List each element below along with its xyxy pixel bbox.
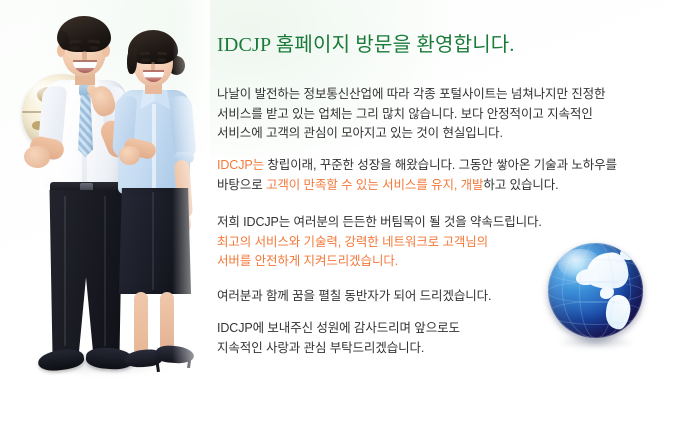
woman-skirt xyxy=(119,188,191,294)
globe-sphere xyxy=(548,243,643,338)
man-eye-left xyxy=(70,46,80,50)
woman-eye-right xyxy=(157,58,166,62)
blue-3d-globe xyxy=(548,243,648,353)
text-line: 서비스에 고객의 관심이 모아지고 있는 것이 현실입니다. xyxy=(217,124,605,144)
man-eye-right xyxy=(89,46,99,50)
highlighted-text: 서버를 안전하게 지켜드리겠습니다. xyxy=(217,254,398,268)
man-trouser-crease-left xyxy=(64,196,66,346)
body-text: 서비스에 고객의 관심이 모아지고 있는 것이 현실입니다. xyxy=(217,126,503,140)
woman-eye-left xyxy=(141,58,150,62)
paragraph-1: 나날이 발전하는 정보통신산업에 따라 각종 포털사이트는 넘쳐나지만 진정한서… xyxy=(217,85,605,144)
man-left-hand xyxy=(24,146,50,168)
paragraph-2: IDCJP는 창립이래, 꾸준한 성장을 해왔습니다. 그동안 쌓아온 기술과 … xyxy=(217,156,617,195)
woman-skirt-seam xyxy=(152,192,154,290)
text-line: IDCJP는 창립이래, 꾸준한 성장을 해왔습니다. 그동안 쌓아온 기술과 … xyxy=(217,156,617,176)
highlighted-text: 고객이 만족할 수 있는 서비스를 유지, 개발 xyxy=(266,178,483,192)
text-line: 바탕으로 고객이 만족할 수 있는 서비스를 유지, 개발하고 있습니다. xyxy=(217,176,617,196)
text-line: 최고의 서비스와 기술력, 강력한 네트워크로 고객님의 xyxy=(217,233,542,253)
text-line: 지속적인 사랑과 관심 부탁드리겠습니다. xyxy=(217,339,460,359)
highlighted-text: 최고의 서비스와 기술력, 강력한 네트워크로 고객님의 xyxy=(217,235,488,249)
paragraph-3: 저희 IDCJP는 여러분의 든든한 버팀목이 될 것을 약속드립니다.최고의 … xyxy=(217,213,542,272)
man-striped-tie xyxy=(78,95,93,157)
highlighted-text: IDCJP는 xyxy=(217,158,264,172)
body-text: 하고 있습니다. xyxy=(483,178,558,192)
paragraph-4: 여러분과 함께 꿈을 펼칠 동반자가 되어 드리겠습니다. xyxy=(217,287,491,307)
woman-right-sleeve xyxy=(169,95,196,161)
woman-left-hand xyxy=(119,146,140,165)
text-line: 저희 IDCJP는 여러분의 든든한 버팀목이 될 것을 약속드립니다. xyxy=(217,213,542,233)
text-line: 나날이 발전하는 정보통신산업에 따라 각종 포털사이트는 넘쳐나지만 진정한 xyxy=(217,85,605,105)
body-text: 여러분과 함께 꿈을 펼칠 동반자가 되어 드리겠습니다. xyxy=(217,289,491,303)
body-text: 창립이래, 꾸준한 성장을 해왔습니다. 그동안 쌓아온 기술과 노하우를 xyxy=(264,158,617,172)
body-text: 나날이 발전하는 정보통신산업에 따라 각종 포털사이트는 넘쳐나지만 진정한 xyxy=(217,87,605,101)
text-line: IDCJP에 보내주신 성원에 감사드리며 앞으로도 xyxy=(217,319,460,339)
woman-side-hair xyxy=(127,48,137,74)
man-trousers xyxy=(48,190,124,358)
paragraph-5: IDCJP에 보내주신 성원에 감사드리며 앞으로도지속적인 사랑과 관심 부탁… xyxy=(217,319,460,358)
body-text: IDCJP에 보내주신 성원에 감사드리며 앞으로도 xyxy=(217,321,460,335)
page-title: IDCJP 홈페이지 방문을 환영합니다. xyxy=(217,28,515,57)
body-text: 지속적인 사랑과 관심 부탁드리겠습니다. xyxy=(217,341,424,355)
business-couple-photo xyxy=(0,0,210,400)
man-trouser-crease-right xyxy=(104,196,106,346)
text-line: 여러분과 함께 꿈을 펼칠 동반자가 되어 드리겠습니다. xyxy=(217,287,491,307)
text-line: 서비스를 받고 있는 업체는 그리 많치 않습니다. 보다 안정적이고 지속적인 xyxy=(217,105,605,125)
text-line: 서버를 안전하게 지켜드리겠습니다. xyxy=(217,252,542,272)
body-text: 저희 IDCJP는 여러분의 든든한 버팀목이 될 것을 약속드립니다. xyxy=(217,215,542,229)
page-root: IDCJP 홈페이지 방문을 환영합니다. 나날이 발전하는 정보통신산업에 따… xyxy=(0,0,680,431)
woman-leg-left xyxy=(134,292,148,356)
globe-rim-light xyxy=(548,243,643,338)
body-text: 바탕으로 xyxy=(217,178,266,192)
body-text: 서비스를 받고 있는 업체는 그리 많치 않습니다. 보다 안정적이고 지속적인 xyxy=(217,107,593,121)
